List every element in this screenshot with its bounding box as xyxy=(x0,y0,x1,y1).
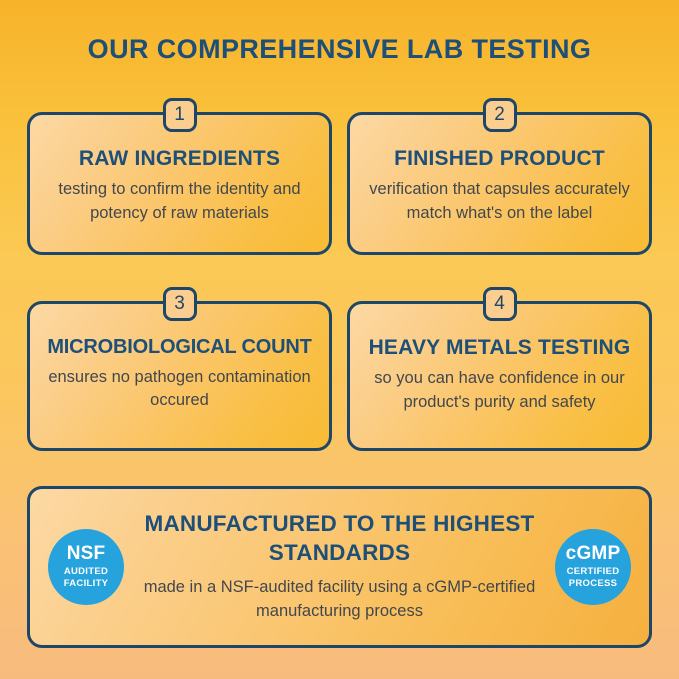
steps-row-2: 3 MICROBIOLOGICAL COUNT ensures no patho… xyxy=(27,301,652,451)
step-description-3: ensures no pathogen contamination occure… xyxy=(44,366,315,413)
testing-steps-grid: 1 RAW INGREDIENTS testing to confirm the… xyxy=(27,112,652,451)
step-card-4: 4 HEAVY METALS TESTING so you can have c… xyxy=(347,301,652,451)
step-number-badge-3: 3 xyxy=(163,287,197,321)
step-number-badge-4: 4 xyxy=(483,287,517,321)
panel-description: made in a NSF-audited facility using a c… xyxy=(130,576,549,624)
cgmp-seal-sub-line-2: PROCESS xyxy=(567,578,620,590)
step-title-2: FINISHED PRODUCT xyxy=(364,147,635,171)
nsf-seal-sub-line-1: AUDITED xyxy=(64,566,109,578)
page-title: OUR COMPREHENSIVE LAB TESTING xyxy=(0,34,679,65)
nsf-seal-sub-label: AUDITED FACILITY xyxy=(64,566,109,589)
cgmp-seal-sub-line-1: CERTIFIED xyxy=(567,566,620,578)
steps-row-1: 1 RAW INGREDIENTS testing to confirm the… xyxy=(27,112,652,255)
nsf-seal-main-label: NSF xyxy=(67,544,106,563)
step-title-1: RAW INGREDIENTS xyxy=(44,147,315,171)
step-number-badge-2: 2 xyxy=(483,98,517,132)
step-number-badge-1: 1 xyxy=(163,98,197,132)
nsf-audited-facility-seal-icon: NSF AUDITED FACILITY xyxy=(48,529,124,605)
lab-testing-infographic: OUR COMPREHENSIVE LAB TESTING 1 RAW INGR… xyxy=(0,0,679,679)
manufacturing-standards-panel: NSF AUDITED FACILITY MANUFACTURED TO THE… xyxy=(27,486,652,648)
step-card-1: 1 RAW INGREDIENTS testing to confirm the… xyxy=(27,112,332,255)
cgmp-seal-main-label: cGMP xyxy=(566,544,621,563)
panel-text-block: MANUFACTURED TO THE HIGHEST STANDARDS ma… xyxy=(124,510,555,623)
step-title-4: HEAVY METALS TESTING xyxy=(364,336,635,360)
nsf-seal-sub-line-2: FACILITY xyxy=(64,578,109,590)
panel-title: MANUFACTURED TO THE HIGHEST STANDARDS xyxy=(130,510,549,568)
step-description-4: so you can have confidence in our produc… xyxy=(364,367,635,414)
step-description-2: verification that capsules accurately ma… xyxy=(364,178,635,225)
step-card-2: 2 FINISHED PRODUCT verification that cap… xyxy=(347,112,652,255)
step-card-3: 3 MICROBIOLOGICAL COUNT ensures no patho… xyxy=(27,301,332,451)
step-description-1: testing to confirm the identity and pote… xyxy=(44,178,315,225)
step-title-3: MICROBIOLOGICAL COUNT xyxy=(44,336,315,359)
cgmp-certified-process-seal-icon: cGMP CERTIFIED PROCESS xyxy=(555,529,631,605)
cgmp-seal-sub-label: CERTIFIED PROCESS xyxy=(567,566,620,589)
